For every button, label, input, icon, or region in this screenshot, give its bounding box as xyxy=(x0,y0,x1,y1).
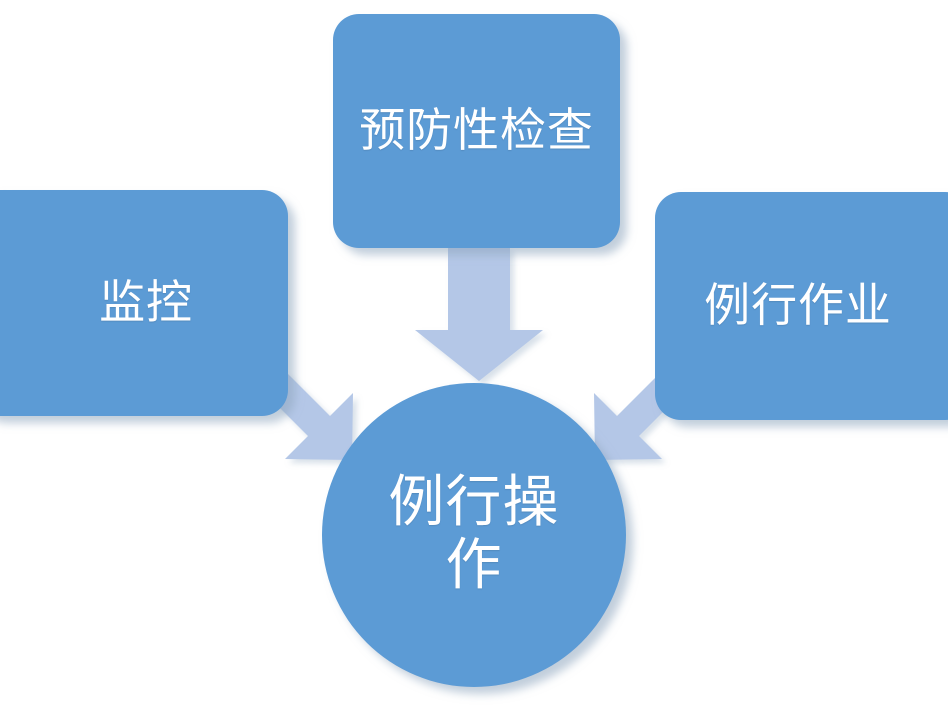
node-monitoring[interactable] xyxy=(0,190,288,416)
node-routine-operation[interactable] xyxy=(322,383,626,687)
arrow-preventive-to-center xyxy=(415,247,543,381)
node-preventive-inspection[interactable] xyxy=(333,14,620,248)
node-routine-job[interactable] xyxy=(655,192,948,420)
diagram-canvas: 监控 预防性检查 例行作业 例行操 作 xyxy=(0,0,948,705)
diagram-shapes-layer xyxy=(0,0,948,705)
